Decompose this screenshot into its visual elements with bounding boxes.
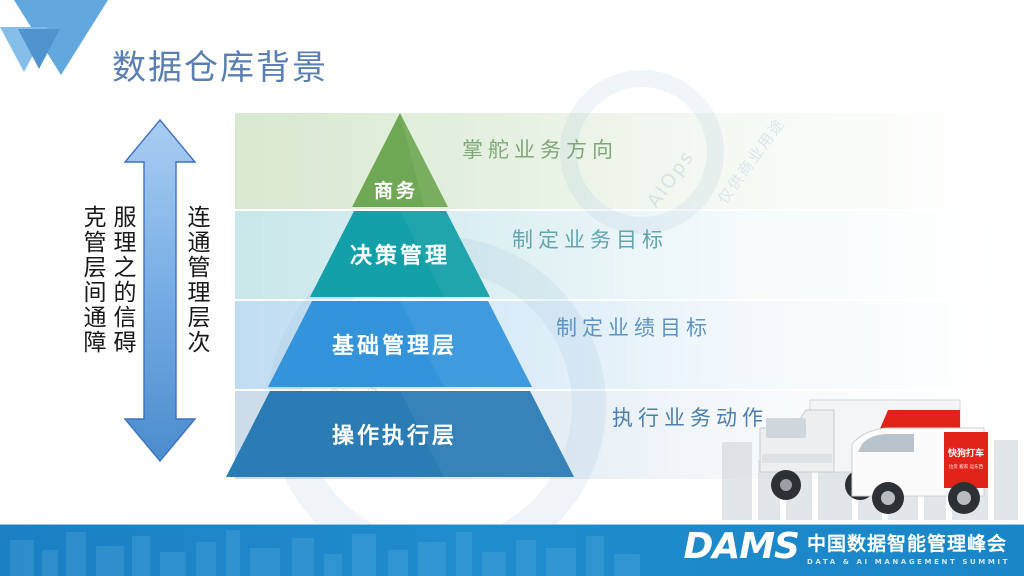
pyramid-tier-label-foundation: 基础管理层 xyxy=(332,328,457,360)
pyramid-tier-label-business: 商务 xyxy=(374,176,418,203)
pyramid-tier-label-operation: 操作执行层 xyxy=(332,418,457,450)
tier-caption-decision: 制定业务目标 xyxy=(512,224,668,254)
tier-caption-business: 掌舵业务方向 xyxy=(462,134,618,164)
bottom-banner: DAMS 中国数据智能管理峰会 DATA & AI MANAGEMENT SUM… xyxy=(0,524,1024,576)
tier-caption-foundation: 制定业绩目标 xyxy=(556,312,712,342)
svg-text:拉货 搬家 运东西: 拉货 搬家 运东西 xyxy=(949,463,984,470)
truck-photo: 快狗打车 快狗打车 拉货 搬家 运东西 xyxy=(748,392,1024,522)
dams-chinese-name: 中国数据智能管理峰会 xyxy=(807,529,1010,556)
left-annotation-column-b: 服理之的信碍 xyxy=(108,205,136,355)
right-annotation-column: 连通管理层次 xyxy=(182,205,210,355)
delivery-van-front: 快狗打车 拉货 搬家 运东西 xyxy=(852,428,988,514)
dams-wordmark: DAMS xyxy=(683,528,799,566)
svg-text:快狗打车: 快狗打车 xyxy=(948,447,984,459)
slide-canvas: 数据仓库背景 Datadoghq AIOps 仅供商业用途 Data 商务 决策… xyxy=(0,0,1024,576)
dams-logo: DAMS 中国数据智能管理峰会 DATA & AI MANAGEMENT SUM… xyxy=(683,528,1010,566)
left-annotation-column-a: 克管层间通障 xyxy=(78,205,106,355)
pyramid-tier-label-decision: 决策管理 xyxy=(350,238,450,270)
dams-english-name: DATA & AI MANAGEMENT SUMMIT xyxy=(807,558,1010,566)
